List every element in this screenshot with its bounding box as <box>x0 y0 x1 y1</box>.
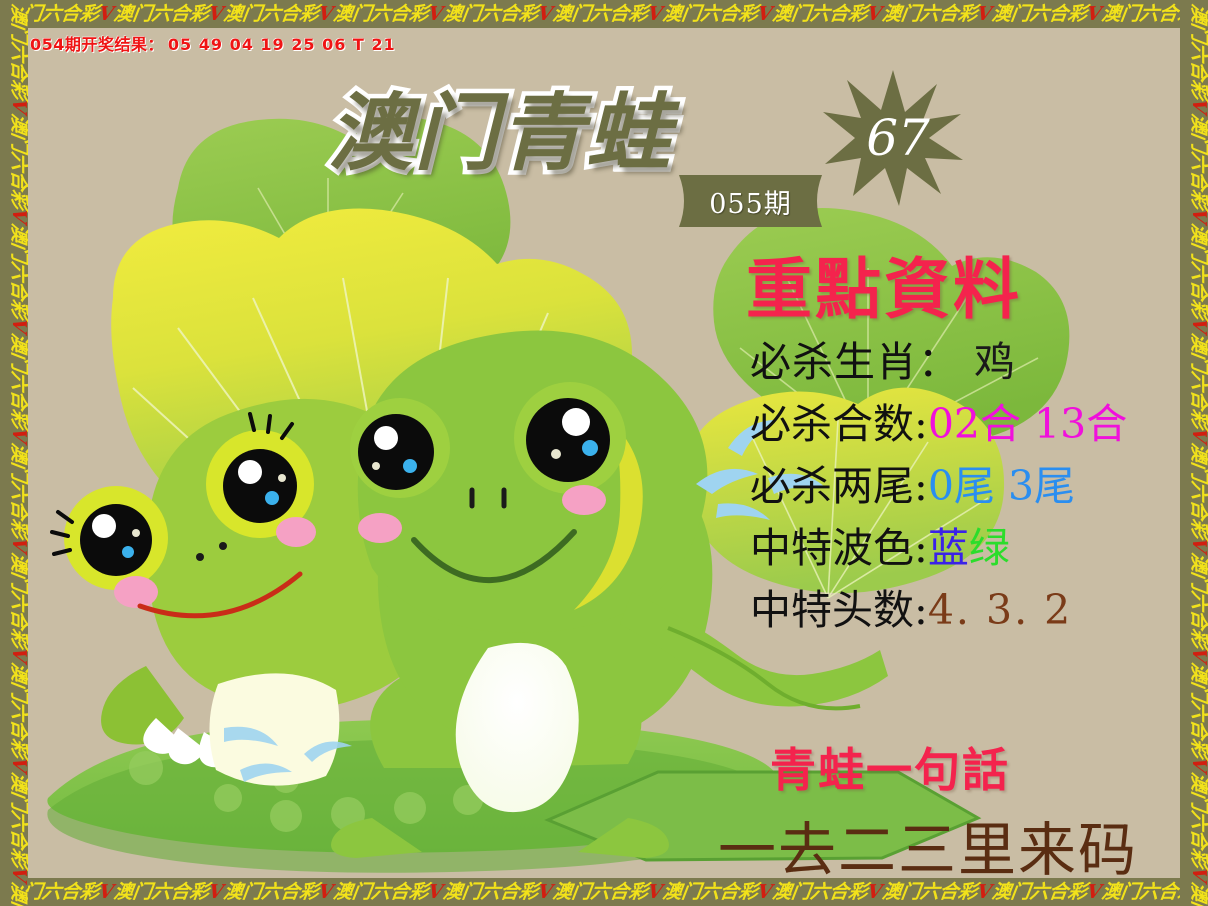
data-rows: 必杀生肖： 鸡 必杀合数: 02合 13合 必杀两尾: 0尾 3尾 中特波色: … <box>750 328 1180 638</box>
border-left: 澳门六合彩V澳门六合彩V澳门六合彩V澳门六合彩V澳门六合彩V澳门六合彩V澳门六合… <box>0 0 28 906</box>
table-row: 必杀生肖： 鸡 <box>750 328 1180 390</box>
frog-large-eye-right <box>514 382 626 494</box>
issue-banner-label: 055期 <box>709 182 792 221</box>
row-label-liangwei: 必杀两尾: <box>750 452 928 512</box>
issue-number-value: 67 <box>823 68 963 208</box>
frog-large-eye-left <box>350 398 450 498</box>
draw-result-prefix: 054期开奖结果： <box>30 35 164 54</box>
border-right: 澳门六合彩V澳门六合彩V澳门六合彩V澳门六合彩V澳门六合彩V澳门六合彩V澳门六合… <box>1180 0 1208 906</box>
row-value-bose-green: 绿 <box>969 524 1010 572</box>
row-label-bose: 中特波色: <box>750 514 928 574</box>
table-row: 中特头数: 4. 3. 2 <box>750 576 1180 638</box>
frog-small-eye-left <box>52 486 168 590</box>
table-row: 必杀合数: 02合 13合 <box>750 390 1180 452</box>
phrase-title: 青蛙一句話 <box>770 734 1010 800</box>
draw-result-numbers: 05 49 04 19 25 06 T 21 <box>168 35 396 54</box>
border-right-pattern: 澳门六合彩V澳门六合彩V澳门六合彩V澳门六合彩V澳门六合彩V澳门六合彩V澳门六合… <box>1189 0 1208 906</box>
frog-small-cheek-right <box>276 517 316 547</box>
row-value-liangwei: 0尾 3尾 <box>928 452 1075 512</box>
border-top-pattern: 澳门六合彩V澳门六合彩V澳门六合彩V澳门六合彩V澳门六合彩V澳门六合彩V澳门六合… <box>0 5 1208 24</box>
issue-number-badge: 67 <box>823 68 963 208</box>
issue-banner: 055期 <box>673 173 828 229</box>
border-bottom: 澳门六合彩V澳门六合彩V澳门六合彩V澳门六合彩V澳门六合彩V澳门六合彩V澳门六合… <box>0 878 1208 906</box>
row-value-heshu: 02合 13合 <box>928 390 1127 450</box>
border-left-wrap: 澳门六合彩V澳门六合彩V澳门六合彩V澳门六合彩V澳门六合彩V澳门六合彩V澳门六合… <box>0 0 28 906</box>
row-value-toushu: 4. 3. 2 <box>928 586 1072 634</box>
frog-small-cheek-left <box>114 576 158 608</box>
table-row: 中特波色: 蓝绿 <box>750 514 1180 576</box>
section-heading: 重點資料 <box>746 236 1022 332</box>
table-row: 必杀两尾: 0尾 3尾 <box>750 452 1180 514</box>
row-label-toushu: 中特头数: <box>750 576 928 636</box>
frog-large-cheek-right <box>562 485 606 515</box>
row-value-bose: 蓝绿 <box>928 514 1010 574</box>
border-top: 澳门六合彩V澳门六合彩V澳门六合彩V澳门六合彩V澳门六合彩V澳门六合彩V澳门六合… <box>0 0 1208 28</box>
row-value-shengxiao: 鸡 <box>974 328 1015 388</box>
page-title: 澳门青蛙 <box>328 66 672 187</box>
frog-large-cheek-left <box>358 513 402 543</box>
phrase-body: 一去二三里来码 <box>718 803 1138 878</box>
border-bottom-pattern: 澳门六合彩V澳门六合彩V澳门六合彩V澳门六合彩V澳门六合彩V澳门六合彩V澳门六合… <box>0 883 1208 902</box>
border-left-pattern: 澳门六合彩V澳门六合彩V澳门六合彩V澳门六合彩V澳门六合彩V澳门六合彩V澳门六合… <box>9 0 28 906</box>
poster-root: 054期开奖结果：05 49 04 19 25 06 T 21 澳门青蛙 67 … <box>0 0 1208 906</box>
draw-result-line: 054期开奖结果：05 49 04 19 25 06 T 21 <box>30 31 396 55</box>
border-right-wrap: 澳门六合彩V澳门六合彩V澳门六合彩V澳门六合彩V澳门六合彩V澳门六合彩V澳门六合… <box>1180 0 1208 906</box>
row-label-heshu: 必杀合数: <box>750 390 928 450</box>
row-label-shengxiao: 必杀生肖： <box>750 328 960 388</box>
poster-canvas: 054期开奖结果：05 49 04 19 25 06 T 21 澳门青蛙 67 … <box>28 28 1180 878</box>
row-value-bose-blue: 蓝 <box>928 524 969 572</box>
